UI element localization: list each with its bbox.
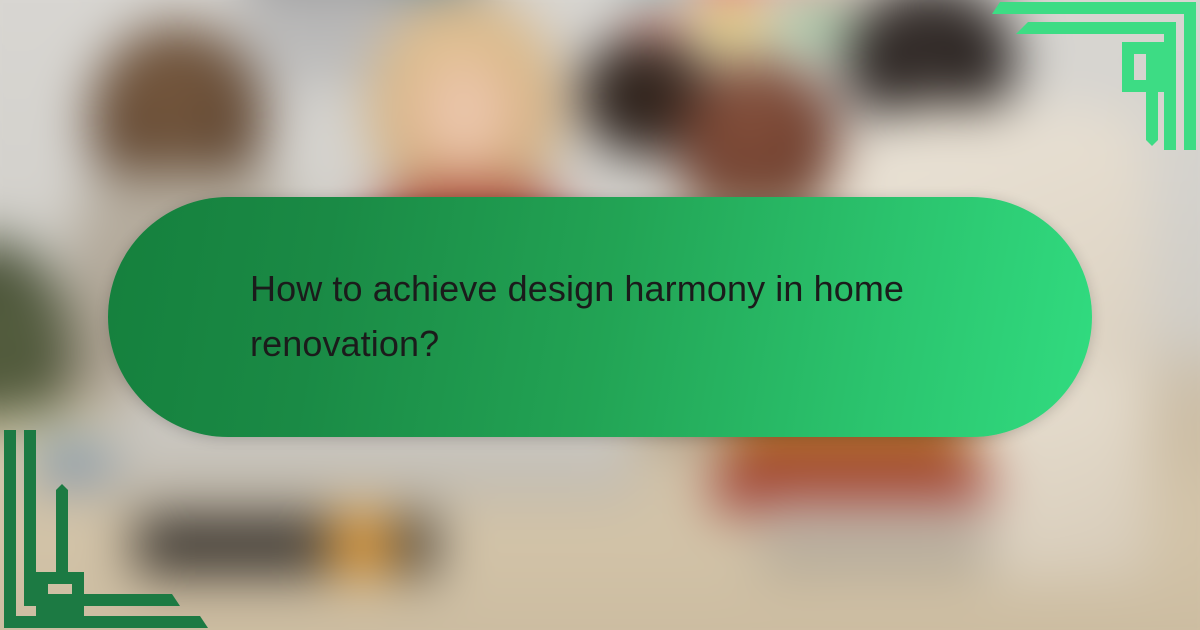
- photo-books: [760, 500, 990, 570]
- question-card-title: How to achieve design harmony in home re…: [250, 262, 950, 371]
- photo-blue-object: [35, 440, 110, 485]
- photo-person-face: [410, 55, 520, 180]
- photo-cup: [330, 515, 395, 575]
- photo-sticky-note: [698, 2, 764, 48]
- question-card: How to achieve design harmony in home re…: [108, 197, 1092, 437]
- share-card-canvas: How to achieve design harmony in home re…: [0, 0, 1200, 630]
- photo-sticky-note: [786, 2, 844, 46]
